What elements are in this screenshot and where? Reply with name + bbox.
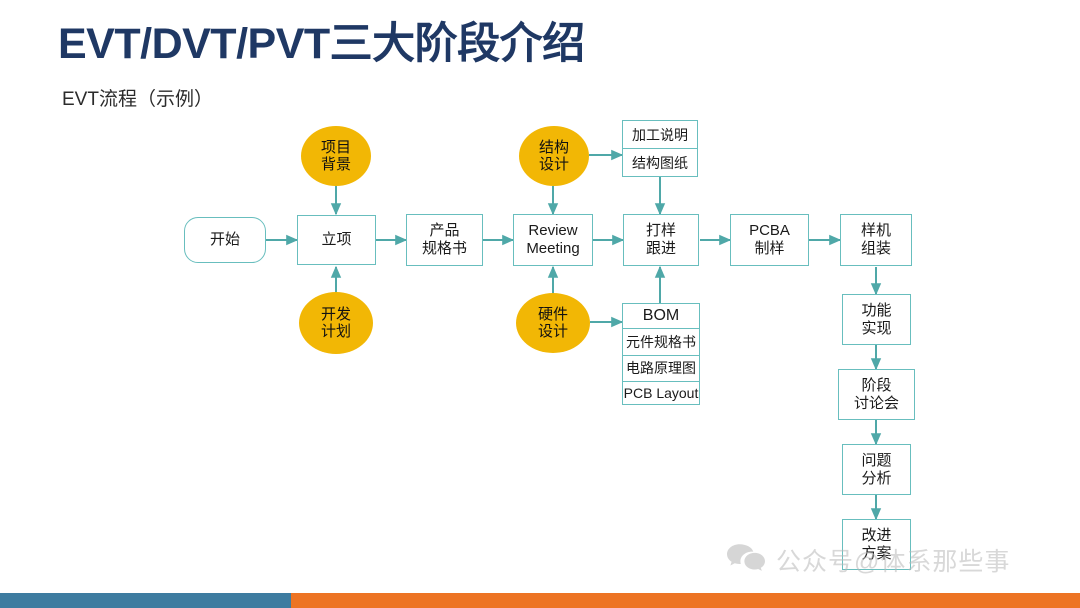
bottom-accent-bar — [0, 593, 1080, 608]
flow-node-label: 阶段 — [861, 377, 891, 395]
flow-node-sample-followup[interactable]: 打样 跟进 — [623, 214, 699, 266]
flow-node-label: Review — [528, 222, 577, 240]
watermark: 公众号@体系那些事 — [726, 542, 1010, 578]
slide-canvas: EVT/DVT/PVT三大阶段介绍 EVT流程（示例） — [0, 0, 1080, 608]
stack-cell-pcb-layout: PCB Layout — [623, 382, 699, 404]
flow-node-label-2: 组装 — [861, 240, 891, 258]
flow-ellipse-hardware-design[interactable]: 硬件 设计 — [516, 293, 590, 353]
stack-cell-structure-drawing: 结构图纸 — [623, 149, 697, 176]
flow-ellipse-project-background[interactable]: 项目 背景 — [301, 126, 371, 186]
flow-ellipse-label: 结构 — [539, 139, 569, 156]
flow-ellipse-label: 开发 — [321, 306, 351, 323]
flow-node-label-2: 分析 — [861, 470, 891, 488]
flow-stack-structure-doc[interactable]: 加工说明 结构图纸 — [622, 120, 698, 177]
flow-ellipse-label-2: 设计 — [539, 156, 569, 173]
flow-ellipse-label-2: 背景 — [321, 156, 351, 173]
flow-node-label: 打样 — [646, 222, 676, 240]
stack-cell-process-description: 加工说明 — [623, 121, 697, 149]
flow-node-review-meeting[interactable]: Review Meeting — [513, 214, 593, 266]
bottom-bar-blue-segment — [0, 593, 291, 608]
flow-stack-bom[interactable]: BOM 元件规格书 电路原理图 PCB Layout — [622, 303, 700, 405]
flow-ellipse-label-2: 设计 — [538, 323, 568, 340]
flow-ellipse-label-2: 计划 — [321, 323, 351, 340]
flow-node-prototype-assembly[interactable]: 样机 组装 — [840, 214, 912, 266]
flow-node-label: 产品 — [429, 222, 459, 240]
flow-node-label: PCBA — [749, 222, 790, 240]
flow-node-pcba[interactable]: PCBA 制样 — [730, 214, 809, 266]
flow-ellipse-structure-design[interactable]: 结构 设计 — [519, 126, 589, 186]
flow-node-label: 问题 — [861, 452, 891, 470]
flow-node-label-2: 制样 — [754, 240, 784, 258]
bottom-bar-orange-segment — [291, 593, 1080, 608]
stack-cell-component-spec: 元件规格书 — [623, 329, 699, 356]
flow-ellipse-label: 硬件 — [538, 306, 568, 323]
flow-node-label: 样机 — [861, 222, 891, 240]
watermark-text: 公众号@体系那些事 — [776, 542, 1010, 578]
flow-ellipse-development-plan[interactable]: 开发 计划 — [299, 292, 373, 354]
flow-node-function-realization[interactable]: 功能 实现 — [842, 294, 911, 345]
flow-node-label-2: 跟进 — [646, 240, 676, 258]
flow-ellipse-label: 项目 — [321, 139, 351, 156]
flow-node-label: 立项 — [321, 231, 351, 249]
flow-node-label: 功能 — [861, 302, 891, 320]
flow-node-stage-discussion[interactable]: 阶段 讨论会 — [838, 369, 915, 420]
page-title: EVT/DVT/PVT三大阶段介绍 — [58, 22, 585, 67]
flow-node-label-2: Meeting — [526, 240, 579, 258]
flow-node-problem-analysis[interactable]: 问题 分析 — [842, 444, 911, 495]
flow-node-label: 开始 — [210, 231, 240, 249]
wechat-icon — [726, 543, 766, 578]
flow-node-project[interactable]: 立项 — [297, 215, 376, 265]
flow-node-start[interactable]: 开始 — [184, 217, 266, 263]
flow-node-label-2: 规格书 — [422, 240, 467, 258]
flow-node-label-2: 讨论会 — [854, 395, 899, 413]
flow-node-label-2: 实现 — [861, 320, 891, 338]
stack-cell-schematic: 电路原理图 — [623, 356, 699, 383]
flow-node-spec[interactable]: 产品 规格书 — [406, 214, 483, 266]
page-subtitle: EVT流程（示例） — [62, 84, 213, 111]
stack-cell-bom-header: BOM — [623, 304, 699, 329]
